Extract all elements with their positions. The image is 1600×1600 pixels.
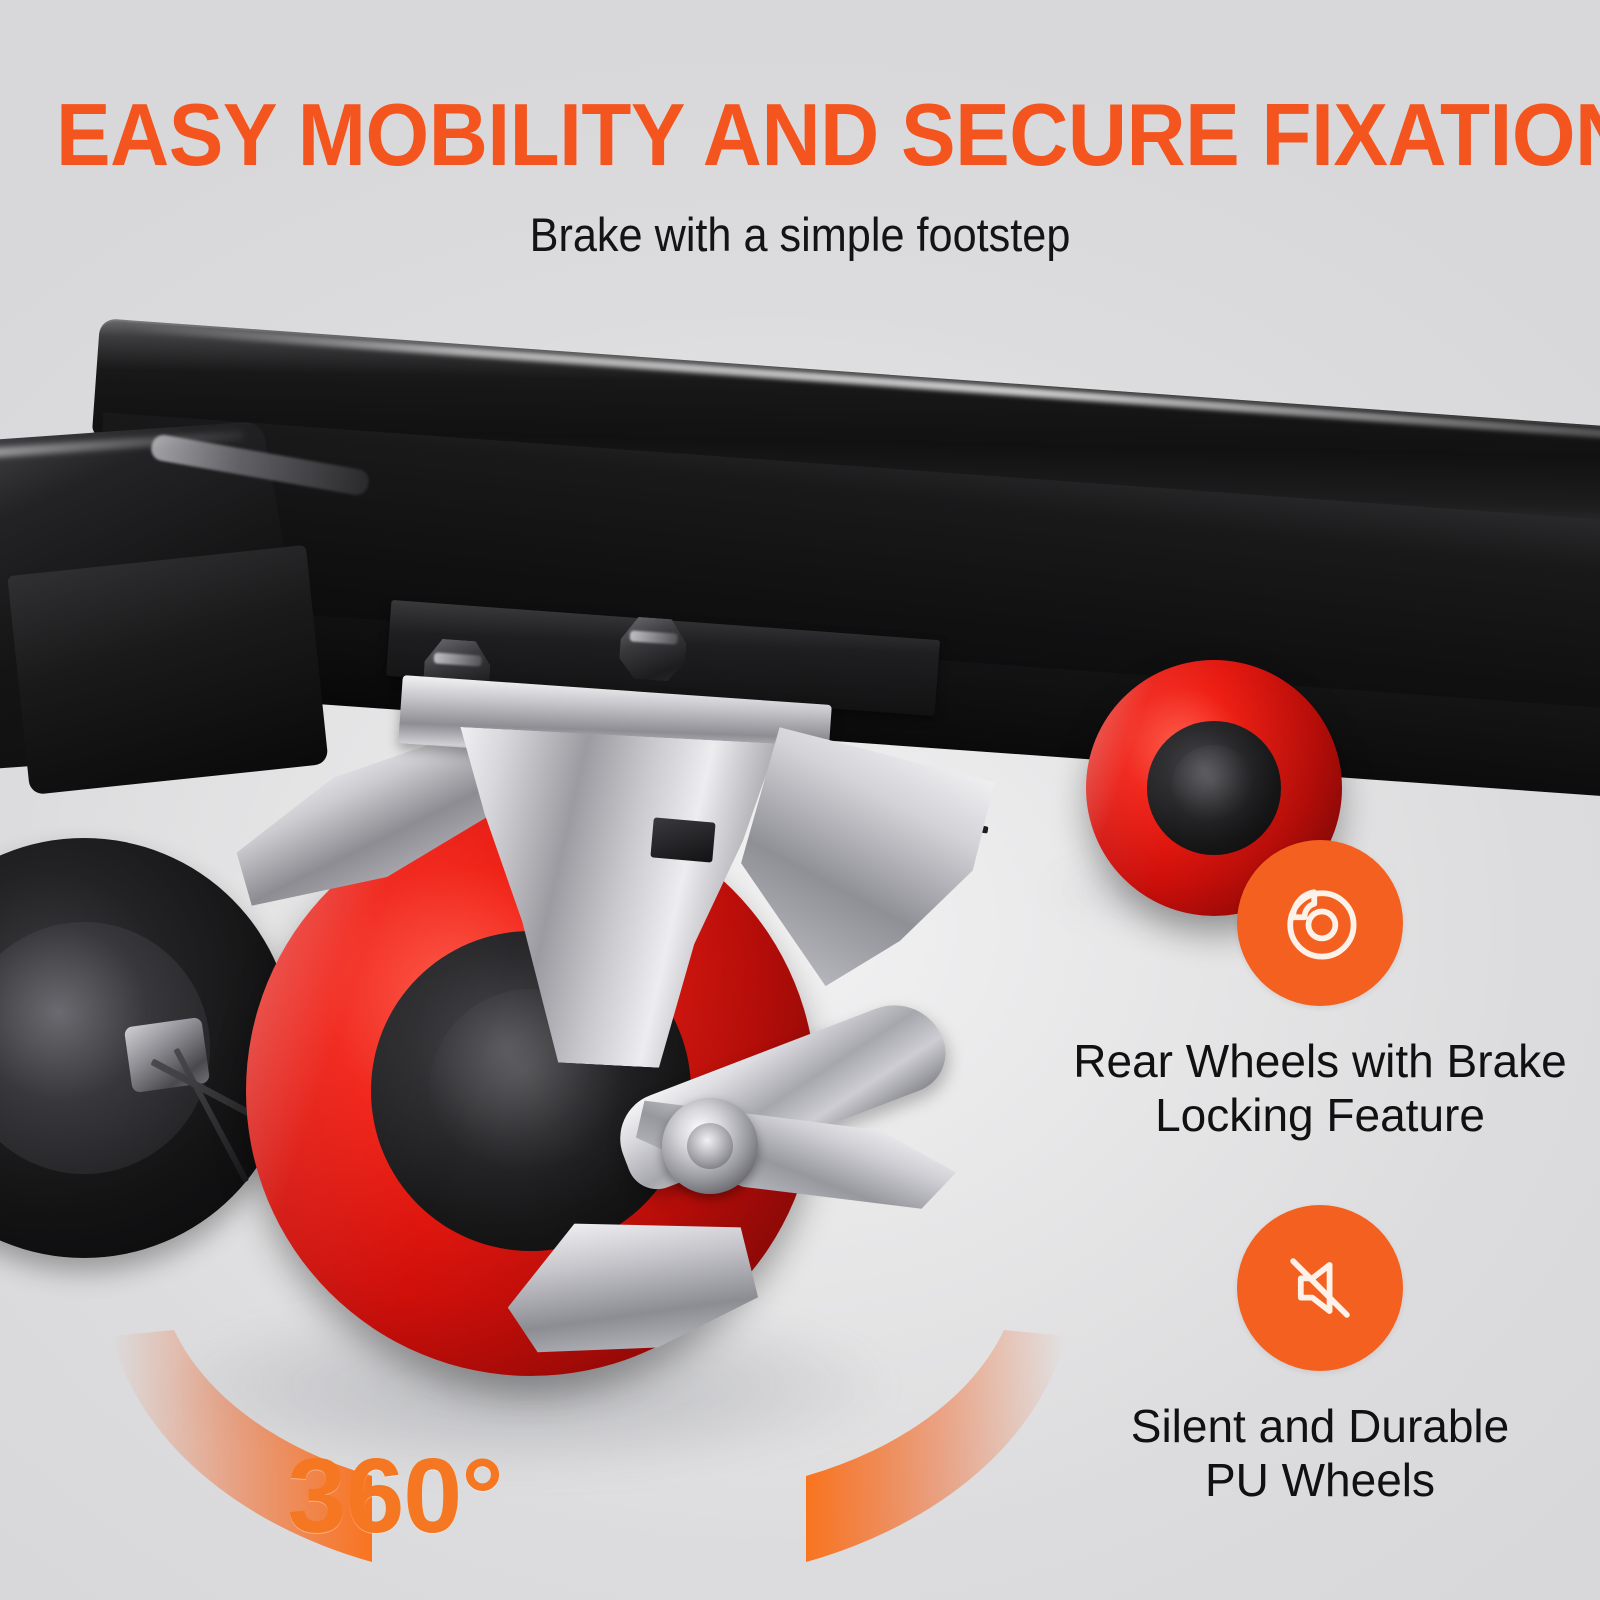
feature-icon-badge-brake — [1237, 840, 1403, 1006]
brake-disc-icon — [1272, 875, 1368, 971]
page-title: EASY MOBILITY AND SECURE FIXATION — [56, 92, 1544, 177]
rotation-badge-label: 360° — [0, 1436, 790, 1557]
feature-item-brake[interactable]: Rear Wheels with Brake Locking Feature — [1070, 840, 1570, 1143]
feature-label-silent: Silent and Durable PU Wheels — [1131, 1399, 1509, 1508]
brake-pivot-bolt — [662, 1098, 758, 1194]
muted-speaker-icon — [1272, 1240, 1368, 1336]
feature-label-brake: Rear Wheels with Brake Locking Feature — [1073, 1034, 1566, 1143]
feature-icon-badge-silent — [1237, 1205, 1403, 1371]
frame-corner-bracket — [7, 545, 328, 795]
feature-item-silent[interactable]: Silent and Durable PU Wheels — [1070, 1205, 1570, 1508]
page-subtitle: Brake with a simple footstep — [64, 207, 1536, 262]
swivel-lock-tab — [650, 817, 715, 862]
feature-list: Rear Wheels with Brake Locking Feature S… — [1070, 840, 1570, 1507]
product-feature-panel: EASY MOBILITY AND SECURE FIXATION Brake … — [0, 0, 1600, 1600]
header-block: EASY MOBILITY AND SECURE FIXATION Brake … — [0, 0, 1600, 262]
